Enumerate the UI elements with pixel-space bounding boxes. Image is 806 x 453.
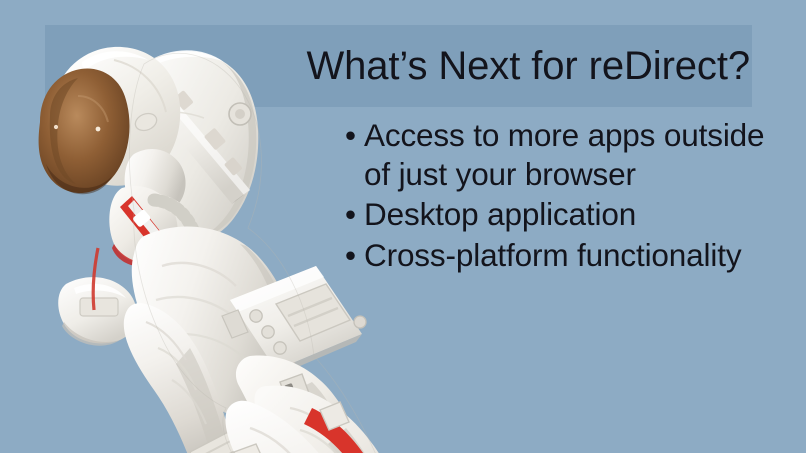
list-item-text: Access to more apps outside of just your… [364, 116, 765, 193]
list-item: • Desktop application [345, 195, 765, 234]
list-item: • Cross-platform functionality [345, 236, 765, 275]
slide-title-text: What’s Next for reDirect? [306, 45, 750, 87]
slide-body-bullet-list: • Access to more apps outside of just yo… [345, 116, 765, 277]
bullet-marker-icon: • [345, 116, 364, 155]
list-item: • Access to more apps outside of just yo… [345, 116, 765, 193]
bullet-marker-icon: • [345, 195, 364, 234]
list-item-text: Desktop application [364, 195, 765, 234]
list-item-text: Cross-platform functionality [364, 236, 765, 275]
bullet-marker-icon: • [345, 236, 364, 275]
slide-title: What’s Next for reDirect? [300, 25, 752, 107]
presentation-slide: What’s Next for reDirect? • Access to mo… [0, 0, 806, 453]
